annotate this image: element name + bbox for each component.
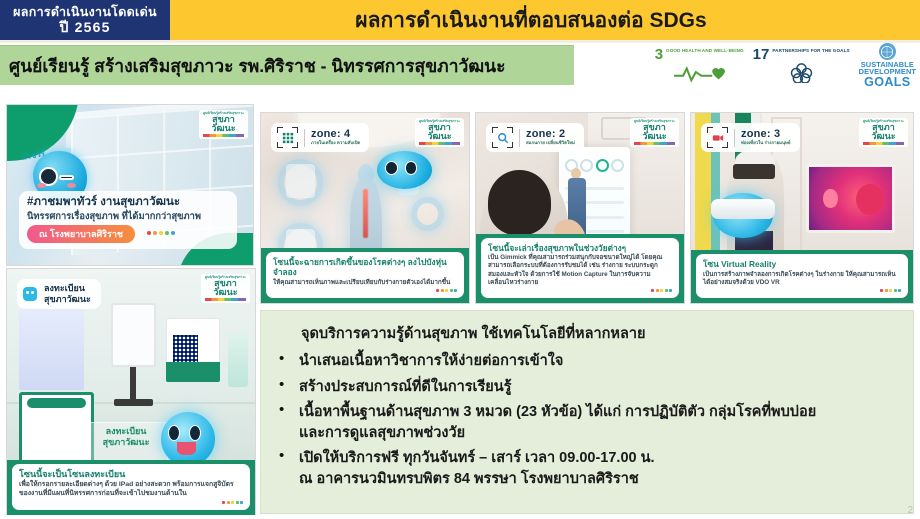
summary-lead: จุดบริการความรู้ด้านสุขภาพ ใช้เทคโนโลยีท…	[301, 322, 899, 345]
subtitle-bar: ศูนย์เรียนรู้ สร้างเสริมสุขภาวะ รพ.ศิริร…	[0, 45, 574, 85]
tour-caption-sub: นิทรรศการเรื่องสุขภาพ ที่ได้มากกว่าสุขภา…	[27, 211, 229, 222]
tour-location-pill: ณ โรงพยาบาลศิริราช	[27, 225, 135, 243]
ipad-icon	[111, 303, 156, 367]
brand-dots	[19, 501, 243, 504]
zone2-badge: zone: 2 สแกนกาย เปลี่ยนชีวิตใหม่	[486, 123, 584, 152]
sdg-goal-3-label: GOOD HEALTH AND WELL-BEING	[666, 48, 744, 53]
brand-logo: ศูนย์เรียนรู้สร้างเสริมสุขภาวะ สุขภา วัฒ…	[201, 274, 250, 303]
bullet-marker: •	[277, 402, 299, 419]
footer-strip	[0, 515, 920, 519]
heartbeat-icon	[655, 63, 744, 83]
summary-bullet: • สร้างประสบการณ์ที่ดีในการเรียนรู้	[277, 377, 899, 398]
sdg-un-logo: SUSTAINABLE DEVELOPMENT GOALS	[859, 43, 916, 88]
subtitle-row: ศูนย์เรียนรู้ สร้างเสริมสุขภาวะ รพ.ศิริร…	[0, 43, 920, 88]
photo-card-zone3[interactable]: zone: 3 ท่องเที่ยวใน ร่างกายมนุษย์ ศูนย์…	[690, 112, 914, 304]
page-title: ผลการดำเนินงานที่ตอบสนองต่อ SDGs	[172, 0, 920, 40]
summary-bullet-line: เปิดให้บริการฟรี ทุกวันจันทร์ – เสาร์ เว…	[299, 448, 899, 469]
registration-caption-body: เพื่อให้กรอกรายละเอียดต่างๆ ด้วย IPad อย…	[19, 481, 243, 499]
zone2-caption-title: โซนนี้จะเล่าเรื่องสุขภาพในช่วงวัยต่างๆ	[488, 243, 672, 253]
year-badge-line1: ผลการดำเนินงานโดดเด่น	[13, 6, 157, 19]
registration-badge-line2: สุขภาวัฒนะ	[44, 294, 91, 305]
face-scan-icon	[23, 287, 37, 301]
zone4-caption-body: ให้คุณสามารถเห็นภาพและเปรียบเทียบกับร่าง…	[273, 279, 457, 287]
brand-logo-line2: วัฒนะ	[205, 288, 246, 297]
photo-card-zone4[interactable]: zone: 4 ภายในเครื่อง ความลับเปิด ศูนย์เร…	[260, 112, 470, 304]
zone3-badge: zone: 3 ท่องเที่ยวใน ร่างกายมนุษย์	[701, 123, 800, 152]
sdg-goal-3: 3 GOOD HEALTH AND WELL-BEING	[655, 48, 744, 83]
brand-logo: ศูนย์เรียนรู้สร้างเสริมสุขภาวะ สุขภา วัฒ…	[199, 110, 248, 139]
counter-sign-line2: สุขภาวัฒนะ	[89, 437, 163, 447]
zone4-badge: zone: 4 ภายในเครื่อง ความลับเปิด	[271, 123, 369, 152]
year-badge: ผลการดำเนินงานโดดเด่น ปี 2565	[0, 0, 172, 40]
brand-dots	[488, 289, 672, 292]
bullet-marker: •	[277, 377, 299, 394]
zone2-caption: โซนนี้จะเล่าเรื่องสุขภาพในช่วงวัยต่างๆ เ…	[476, 234, 684, 303]
zone4-badge-sub: ภายในเครื่อง ความลับเปิด	[311, 141, 360, 146]
partnership-rings-icon	[753, 63, 850, 83]
mascot-icon	[161, 412, 216, 466]
registration-badge: ลงทะเบียน สุขภาวัฒนะ	[17, 279, 101, 309]
brand-logo-line2: วัฒนะ	[419, 132, 460, 141]
brand-logo-line2: วัฒนะ	[203, 124, 244, 133]
sdg-logo-line3: GOALS	[864, 76, 910, 88]
tour-caption: #ภาชมพาทัวร์ งานสุขภาวัฒนะ นิทรรศการเรื่…	[19, 191, 237, 249]
sdg-goal-17: 17 PARTNERSHIPS FOR THE GOALS	[753, 48, 850, 83]
year-badge-line2: ปี 2565	[59, 20, 110, 34]
vr-headset-icon	[711, 199, 775, 220]
mascot-icon	[377, 151, 431, 189]
zone3-caption-title: โซน Virtual Reality	[703, 259, 901, 269]
photo-card-zone2[interactable]: zone: 2 สแกนกาย เปลี่ยนชีวิตใหม่ ศูนย์เร…	[475, 112, 685, 304]
summary-bullet: • เนื้อหาพื้นฐานด้านสุขภาพ 3 หมวด (23 หั…	[277, 402, 899, 443]
brand-dots	[703, 289, 901, 292]
photo-card-tour[interactable]: มาชวร์ ศูนย์เรียนรู้สร้างเสริมสุขภาวะ สุ…	[6, 104, 254, 266]
zone2-badge-sub: สแกนกาย เปลี่ยนชีวิตใหม่	[526, 141, 575, 146]
brand-logo: ศูนย์เรียนรู้สร้างเสริมสุขภาวะ สุขภา วัฒ…	[859, 118, 908, 147]
video-icon	[707, 127, 728, 148]
counter-sign: ลงทะเบียน สุขภาวัฒนะ	[89, 426, 163, 447]
sdg-goal-3-number: 3	[655, 48, 663, 62]
zone3-caption: โซน Virtual Reality เป็นการสร้างภาพจำลอง…	[691, 250, 913, 303]
sdg-logos: 3 GOOD HEALTH AND WELL-BEING 17 PARTNERS…	[655, 43, 916, 88]
summary-bullet-line: สร้างประสบการณ์ที่ดีในการเรียนรู้	[299, 377, 899, 398]
zone2-caption-body: เป็น Gimmick ที่คุณสามารถร่วมสนุกกับจอขน…	[488, 254, 672, 287]
brand-logo-line2: วัฒนะ	[863, 132, 904, 141]
summary-bullet-line: และการดูแลสุขภาพช่วงวัย	[299, 423, 899, 444]
zone3-badge-sub: ท่องเที่ยวใน ร่างกายมนุษย์	[741, 141, 791, 146]
brand-dots	[273, 289, 457, 292]
summary-bullet: • เปิดให้บริการฟรี ทุกวันจันทร์ – เสาร์ …	[277, 448, 899, 489]
counter-sign-line1: ลงทะเบียน	[89, 426, 163, 436]
sdg-goal-17-label: PARTNERSHIPS FOR THE GOALS	[772, 48, 849, 53]
search-icon	[492, 127, 513, 148]
tour-caption-title: #ภาชมพาทัวร์ งานสุขภาวัฒนะ	[27, 196, 229, 209]
grid-icon	[277, 127, 298, 148]
brand-logo: ศูนย์เรียนรู้สร้างเสริมสุขภาวะ สุขภา วัฒ…	[415, 118, 464, 147]
summary-bullet-line: ณ อาคารนวมินทรบพิตร 84 พรรษา โรงพยาบาลศิ…	[299, 469, 899, 490]
un-emblem-icon	[879, 43, 896, 60]
summary-text-panel: จุดบริการความรู้ด้านสุขภาพ ใช้เทคโนโลยีท…	[260, 310, 914, 514]
sdg-goal-17-number: 17	[753, 48, 770, 62]
zone4-caption-title: โซนนี้จะฉายการเกิดขึ้นของโรคต่างๆ ลงไปบั…	[273, 257, 457, 278]
summary-bullet-line: นำเสนอเนื้อหาวิชาการให้ง่ายต่อการเข้าใจ	[299, 351, 899, 372]
summary-bullet-line: เนื้อหาพื้นฐานด้านสุขภาพ 3 หมวด (23 หัวข…	[299, 402, 899, 423]
brand-dots	[147, 231, 175, 235]
zone3-caption-body: เป็นการสร้างภาพจำลองการเกิดโรคต่างๆ ในร่…	[703, 271, 901, 287]
registration-badge-line1: ลงทะเบียน	[44, 283, 91, 294]
brand-logo-line2: วัฒนะ	[634, 132, 675, 141]
zone4-caption: โซนนี้จะฉายการเกิดขึ้นของโรคต่างๆ ลงไปบั…	[261, 248, 469, 303]
registration-caption: โซนนี้จะเป็นโซนลงทะเบียน เพื่อให้กรอกราย…	[7, 460, 255, 515]
qr-code-icon	[173, 335, 198, 362]
brand-logo: ศูนย์เรียนรู้สร้างเสริมสุขภาวะ สุขภา วัฒ…	[630, 118, 679, 147]
bullet-marker: •	[277, 351, 299, 368]
registration-caption-title: โซนนี้จะเป็นโซนลงทะเบียน	[19, 469, 243, 480]
bullet-marker: •	[277, 448, 299, 465]
photo-card-registration[interactable]: ลงทะเบียน สุขภาวัฒนะ ลงทะเบียน สุขภาวัฒน…	[6, 268, 256, 516]
summary-bullet: • นำเสนอเนื้อหาวิชาการให้ง่ายต่อการเข้าใ…	[277, 351, 899, 372]
